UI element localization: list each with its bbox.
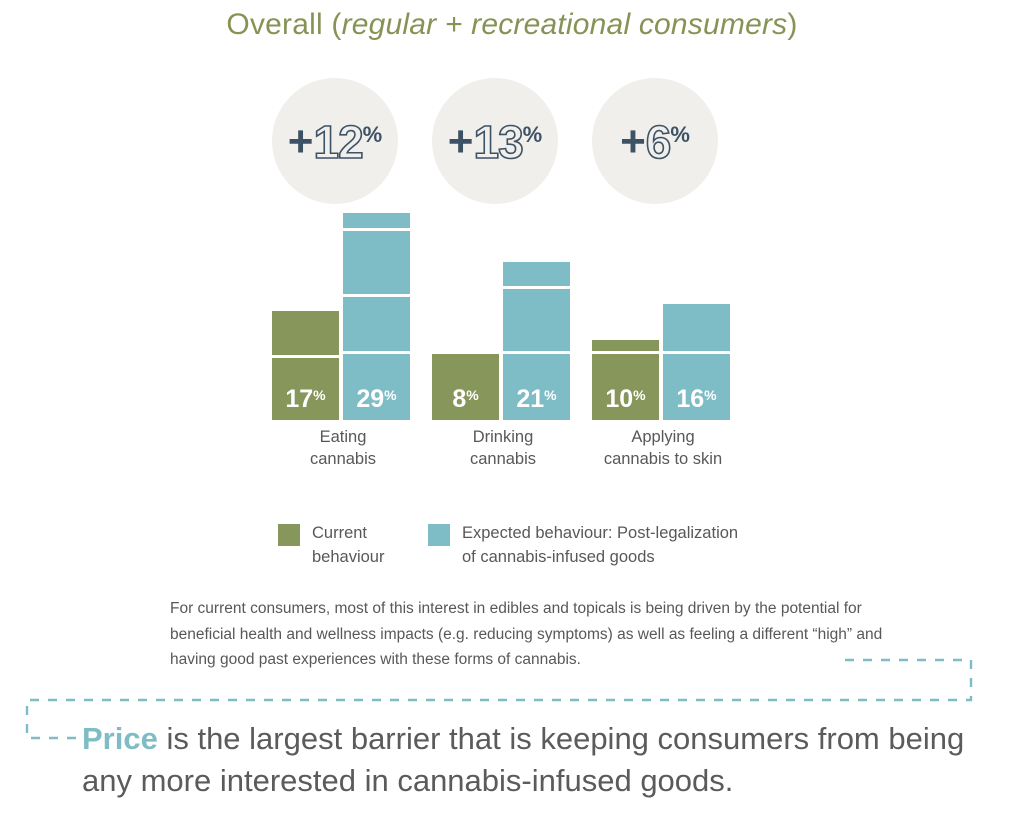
page-title: Overall (regular + recreational consumer… [0, 8, 1024, 42]
bar-value-label: 8% [452, 387, 478, 412]
bar-segment-labeled: 21% [503, 354, 570, 420]
bar-value-label: 16% [676, 387, 716, 412]
bar-value-label: 17% [285, 387, 325, 412]
category-label-line: cannabis [413, 448, 593, 470]
category-label-eating: Eating cannabis [253, 426, 433, 471]
legend-label: Current behaviour [312, 522, 384, 570]
delta-badge-drinking-text: +13% [448, 123, 542, 163]
plus-icon: + [448, 123, 474, 161]
legend-label: Expected behaviour: Post-legalization of… [462, 522, 738, 570]
bar-group-applying: 10% 16% [592, 205, 734, 420]
category-label-drinking: Drinking cannabis [413, 426, 593, 471]
bar-segment-labeled: 8% [432, 354, 499, 420]
delta-value: 12 [313, 123, 362, 163]
bar-segment [503, 262, 570, 286]
category-label-line: Eating [253, 426, 433, 448]
callout-rest: is the largest barrier that is keeping c… [82, 721, 964, 798]
delta-badge-applying-text: +6% [620, 123, 690, 163]
category-label-applying: Applying cannabis to skin [573, 426, 753, 471]
title-prefix: Overall ( [226, 8, 341, 41]
bar-applying-expected: 16% [663, 301, 730, 420]
bar-segment [663, 304, 730, 351]
bar-group-drinking: 8% 21% [432, 205, 574, 420]
bar-value-label: 29% [356, 387, 396, 412]
bar-segment-labeled: 16% [663, 354, 730, 420]
bar-segment [503, 289, 570, 351]
bar-segment [272, 311, 339, 355]
legend-item-expected: Expected behaviour: Post-legalization of… [428, 522, 738, 570]
percent-icon: % [363, 124, 383, 146]
bar-drinking-current: 8% [432, 351, 499, 420]
bar-group-eating: 17% 29% [272, 205, 414, 420]
delta-value: 6 [646, 123, 671, 163]
title-emphasis: regular + recreational consumers [342, 8, 788, 41]
plus-icon: + [620, 123, 646, 161]
delta-badge-drinking: +13% [432, 78, 558, 204]
category-labels: Eating cannabis Drinking cannabis Applyi… [272, 426, 742, 474]
percent-icon: % [670, 124, 690, 146]
callout-statement: Price is the largest barrier that is kee… [82, 718, 1012, 802]
bar-eating-current: 17% [272, 308, 339, 420]
bar-segment-labeled: 10% [592, 354, 659, 420]
category-label-line: Drinking [413, 426, 593, 448]
category-label-line: cannabis [253, 448, 433, 470]
delta-value: 13 [473, 123, 522, 163]
category-label-line: Applying [573, 426, 753, 448]
delta-badge-applying: +6% [592, 78, 718, 204]
percent-icon: % [523, 124, 543, 146]
bar-value-label: 21% [516, 387, 556, 412]
bar-segment [343, 297, 410, 351]
legend-swatch-icon [428, 524, 450, 546]
bar-chart: 17% 29% 8% 21% 1 [272, 205, 742, 420]
legend-item-current: Current behaviour [278, 522, 384, 570]
bar-eating-expected: 29% [343, 210, 410, 420]
category-label-line: cannabis to skin [573, 448, 753, 470]
legend-swatch-icon [278, 524, 300, 546]
delta-badge-eating: +12% [272, 78, 398, 204]
title-suffix: ) [787, 8, 797, 41]
bar-segment-labeled: 17% [272, 358, 339, 420]
bar-segment [592, 340, 659, 351]
chart-legend: Current behaviour Expected behaviour: Po… [278, 522, 798, 572]
bar-drinking-expected: 21% [503, 259, 570, 420]
body-paragraph: For current consumers, most of this inte… [170, 596, 915, 673]
callout-keyword: Price [82, 721, 158, 756]
bar-value-label: 10% [605, 387, 645, 412]
bar-segment [343, 213, 410, 228]
bar-applying-current: 10% [592, 337, 659, 420]
delta-badge-eating-text: +12% [288, 123, 382, 163]
bar-segment-labeled: 29% [343, 354, 410, 420]
plus-icon: + [288, 123, 314, 161]
delta-badge-row: +12% +13% +6% [272, 78, 732, 204]
bar-segment [343, 231, 410, 294]
